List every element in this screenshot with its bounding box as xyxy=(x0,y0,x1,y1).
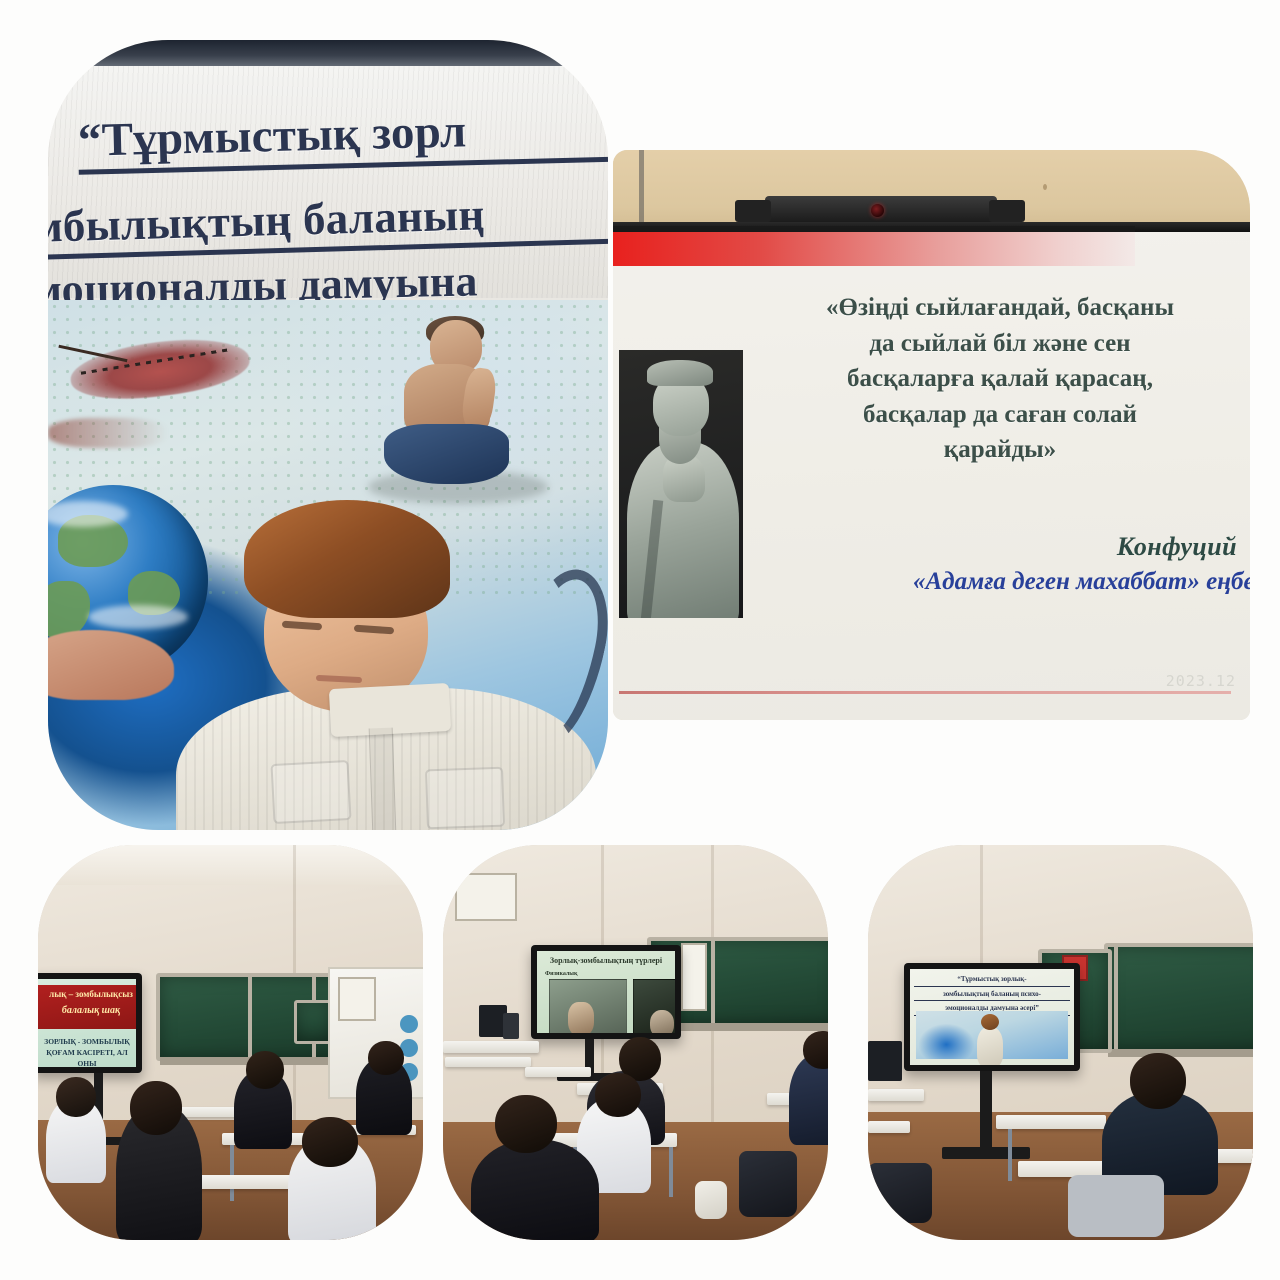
slide-attribution: Конфуций «Адамға деген махаббат» еңбегі» xyxy=(913,532,1237,596)
photo-timestamp: 2023.12 xyxy=(1166,672,1236,690)
slide-two-photos: Зорлық-зомбылықтың түрлері Физикалық xyxy=(537,951,675,1033)
student-head xyxy=(302,1117,358,1167)
room2-slide-sub: Физикалық xyxy=(545,971,577,977)
classroom-display[interactable]: “Тұрмыстық зорлық- зомбылықтың баланың п… xyxy=(904,963,1080,1071)
classroom-display[interactable]: лық – зомбылықсыз балалық шақ ЗОРЛЫҚ - З… xyxy=(38,973,142,1073)
desk xyxy=(525,1067,591,1077)
slide-child-figure xyxy=(977,1027,1003,1065)
classroom-photo-right[interactable]: “Тұрмыстық зорлық- зомбылықтың баланың п… xyxy=(868,845,1253,1240)
decor-circle-icon xyxy=(400,1015,418,1033)
poster-photo-tile[interactable]: “Тұрмыстық зорл мбылықтың баланың моцион… xyxy=(48,40,608,830)
computer-monitor xyxy=(503,1013,519,1039)
quote-author: Конфуций xyxy=(913,532,1237,562)
computer-monitor xyxy=(868,1041,902,1081)
room1-slide-title-1: лық – зомбылықсыз xyxy=(42,989,136,999)
room1-slide-body: ЗОРЛЫҚ - ЗОМБЫЛЫҚ ҚОҒАМ КАСІРЕТІ, АЛ ОНЫ… xyxy=(38,1037,136,1067)
classroom-photo-left[interactable]: лық – зомбылықсыз балалық шақ ЗОРЛЫҚ - З… xyxy=(38,845,423,1240)
teacher-desk xyxy=(868,1121,910,1133)
room2-slide-title: Зорлық-зомбылықтың түрлері xyxy=(537,956,675,965)
poster-top-band xyxy=(48,40,608,66)
power-led-icon xyxy=(871,204,884,217)
bruised-eye-image xyxy=(58,318,268,414)
cheek-bruise xyxy=(48,418,168,448)
wall-notice xyxy=(338,977,376,1021)
classroom-photo-middle[interactable]: Зорлық-зомбылықтың түрлері Физикалық xyxy=(443,845,828,1240)
student xyxy=(471,1139,599,1240)
slide-accent-stripe xyxy=(613,232,1135,266)
projector-slide-photo-tile[interactable]: «Өзіңді сыйлағандай, басқаны да сыйлай б… xyxy=(613,150,1250,720)
room1-body-1: ЗОРЛЫҚ - ЗОМБЫЛЫҚ xyxy=(38,1037,136,1048)
slide-artwork xyxy=(916,1011,1068,1059)
presentation-screen: «Өзіңді сыйлағандай, басқаны да сыйлай б… xyxy=(613,232,1250,720)
desk xyxy=(996,1115,1106,1129)
backpack xyxy=(739,1151,797,1217)
display-screen: лық – зомбылықсыз балалық шақ ЗОРЛЫҚ - З… xyxy=(38,979,136,1067)
backpack xyxy=(868,1163,932,1223)
quote-line-3: басқаларға қалай қарасаң, xyxy=(765,361,1235,397)
slide-photo-1 xyxy=(549,979,627,1033)
student-head xyxy=(246,1051,284,1089)
slide-red-banner: лық – зомбылықсыз балалық шақ ЗОРЛЫҚ - З… xyxy=(38,979,136,1067)
teacher-desk xyxy=(868,1089,924,1101)
confucius-statue-image xyxy=(619,350,743,618)
room3-title-2: зомбылықтың баланың психо- xyxy=(914,989,1070,1002)
slide-title-poster: “Тұрмыстық зорлық- зомбылықтың баланың п… xyxy=(910,969,1074,1065)
bag-white xyxy=(695,1181,727,1219)
slide-photo-2 xyxy=(633,979,675,1033)
quote-line-5: қарайды» xyxy=(765,432,1235,468)
quote-line-1: «Өзіңді сыйлағандай, басқаны xyxy=(765,290,1235,326)
student-head xyxy=(595,1073,641,1117)
wall-notice xyxy=(681,943,707,1011)
room1-body-2: ҚОҒАМ КАСІРЕТІ, АЛ ОНЫ xyxy=(38,1048,136,1067)
crouching-child-image xyxy=(378,320,543,500)
student-head xyxy=(56,1077,96,1117)
student-head xyxy=(130,1081,182,1135)
teacher-desk xyxy=(443,1041,539,1053)
poster-artwork xyxy=(48,300,608,830)
student-head xyxy=(368,1041,404,1075)
wall-speck xyxy=(1043,184,1047,190)
poster-wrap: “Тұрмыстық зорл мбылықтың баланың моцион… xyxy=(48,40,608,830)
display-stand xyxy=(980,1071,992,1155)
display-stand-foot xyxy=(942,1147,1030,1159)
projector-sensor-bar xyxy=(765,196,997,226)
student-head xyxy=(495,1095,557,1153)
wall-above-screen xyxy=(613,150,1250,232)
chair xyxy=(1068,1175,1164,1237)
quote-line-4: басқалар да саған солай xyxy=(765,397,1235,433)
photo-collage: “Тұрмыстық зорл мбылықтың баланың моцион… xyxy=(0,0,1280,1280)
ceiling xyxy=(38,845,423,885)
teacher-desk xyxy=(445,1057,531,1067)
display-screen: Зорлық-зомбылықтың түрлері Физикалық xyxy=(537,951,675,1033)
wall-certificate xyxy=(455,873,517,921)
chalkboard xyxy=(1104,943,1253,1053)
room3-title-1: “Тұрмыстық зорлық- xyxy=(914,974,1070,987)
slide-quote: «Өзіңді сыйлағандай, басқаны да сыйлай б… xyxy=(765,290,1235,468)
room1-slide-title-2: балалық шақ xyxy=(42,1005,136,1016)
student-head xyxy=(1130,1053,1186,1109)
display-screen: “Тұрмыстық зорлық- зомбылықтың баланың п… xyxy=(910,969,1074,1065)
classroom-display[interactable]: Зорлық-зомбылықтың түрлері Физикалық xyxy=(531,945,681,1039)
foreground-child-image xyxy=(220,500,550,830)
frame-edge xyxy=(639,150,644,226)
quote-line-2: да сыйлай біл және сен xyxy=(765,326,1235,362)
quote-work-title: «Адамға деген махаббат» еңбегі» xyxy=(913,568,1237,596)
slide-bottom-rule xyxy=(619,691,1231,694)
